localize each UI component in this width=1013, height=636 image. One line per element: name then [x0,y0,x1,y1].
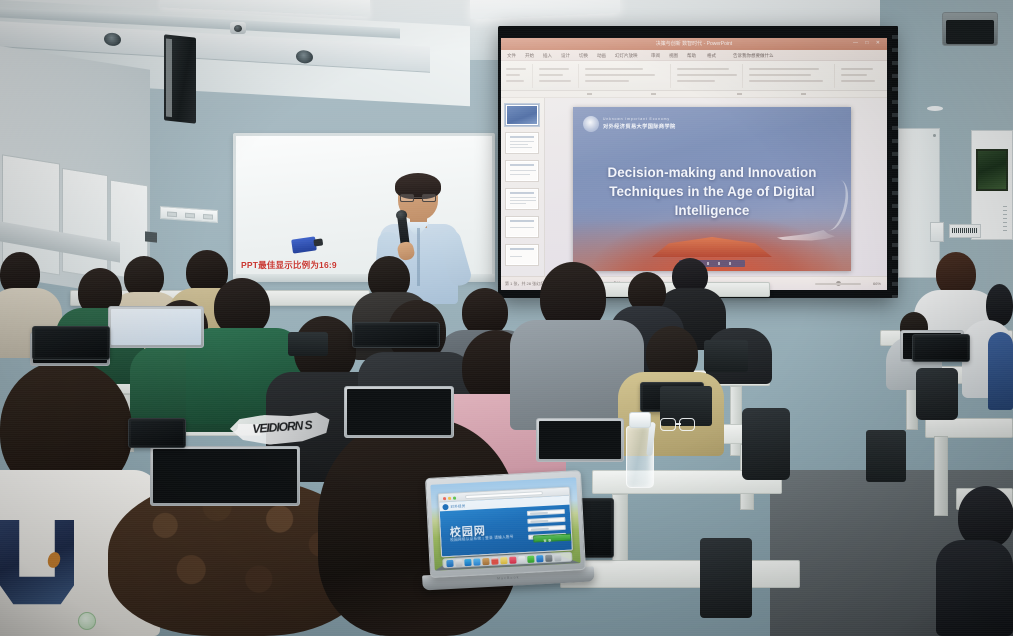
water-bottle[interactable] [626,412,654,488]
student-shoulder [988,332,1013,410]
ceiling-spotlight [296,50,313,64]
window-title: 决策与创新 数智时代 - PowerPoint [656,40,732,47]
bag-right-aisle[interactable] [916,368,958,420]
window-blind [62,168,108,279]
desktop-monitor-left-row[interactable] [128,418,186,448]
launchpad-icon[interactable] [455,559,462,566]
login-form[interactable] [527,509,565,511]
tab-review[interactable]: 审阅 [651,53,660,59]
browser-window[interactable]: 对外经贸 校园网 校园网络认证系统 | 登录 请输入账号 登 录 [438,487,573,558]
slide-editing-stage[interactable]: Unknown Important Economy 对外经济贸易大学国际商学院 … [545,98,887,276]
slide-title-line-2: Techniques in the Age of Digital [595,182,829,201]
horizontal-ruler [501,91,887,98]
tab-format[interactable]: 格式 [707,53,716,59]
slide-thumbnail-4[interactable] [505,188,539,210]
logo-english-text: Unknown Important Economy [603,117,670,121]
display-ratio-notice: PPT最佳显示比例为16:9 [241,259,337,273]
carrier-select[interactable] [528,525,566,532]
zoom-slider[interactable] [815,283,861,285]
maximize-icon[interactable] [453,497,456,500]
surveillance-camera [230,22,246,34]
slide-title-text: Decision-making and Innovation Technique… [573,163,851,220]
desktop-monitor-back[interactable] [32,326,110,360]
desk-leg [934,436,948,516]
ceiling-speaker-right [942,12,998,46]
tab-help[interactable]: 帮助 [687,53,696,59]
account-field[interactable] [527,509,565,516]
wall-socket [145,231,157,242]
tab-insert[interactable]: 插入 [543,53,552,59]
slide-thumbnail-2[interactable] [505,132,539,154]
slide-thumbnail-5[interactable] [505,216,539,238]
powerpoint-title-bar: 决策与创新 数智时代 - PowerPoint — □ ✕ [501,38,887,50]
light-switch-right[interactable] [930,222,944,242]
password-field[interactable] [527,517,565,524]
tab-transitions[interactable]: 切换 [579,53,588,59]
contacts-icon[interactable] [482,557,489,564]
laptop-mid-left[interactable] [108,306,204,348]
tab-view[interactable]: 视图 [669,53,678,59]
chair-back [288,332,328,356]
info-sign [949,224,981,238]
macbook-laptop[interactable]: MacBook 对外经贸 校园网 校园网络认证系统 | 登录 请输 [425,470,587,598]
powerpoint-ribbon[interactable] [501,61,887,91]
projection-screen: 决策与创新 数智时代 - PowerPoint — □ ✕ 文件 开始 插入 设… [498,26,894,298]
logo-chinese-text: 对外经济贸易大学国际商学院 [603,123,676,130]
aircraft-graphic [777,229,835,245]
desk-front-center [560,560,800,588]
chair-back [866,430,906,482]
slide-thumbnail-6[interactable] [505,244,539,266]
appstore-icon[interactable] [536,555,543,562]
ribbon-group-slides[interactable] [535,64,579,88]
settings-icon[interactable] [545,554,552,561]
student-body [936,540,1013,636]
desk-leg [612,494,628,570]
slide-thumbnail-panel[interactable] [501,98,545,276]
tab-slideshow[interactable]: 幻灯片放映 [615,53,638,59]
ribbon-group-editing[interactable] [837,64,885,88]
wall-fixture-icon [918,100,948,120]
slide-thumbnail-3[interactable] [505,160,539,182]
calendar-icon[interactable] [491,557,498,564]
tab-design[interactable]: 设计 [561,53,570,59]
laptop-center[interactable] [344,386,454,438]
login-button[interactable]: 登 录 [533,534,571,543]
poster-image [976,149,1008,191]
tab-home[interactable]: 开始 [525,53,534,59]
presenter-glasses [400,194,436,202]
safari-icon[interactable] [464,558,471,565]
backpack[interactable] [742,408,790,480]
login-button-label: 登 录 [543,537,551,542]
tab-file[interactable]: 文件 [507,53,516,59]
desk-right-3 [925,418,1013,438]
trash-icon[interactable] [554,554,561,561]
slide-title-line-3: Intelligence [595,201,829,220]
laptop-center-right[interactable] [536,418,624,462]
finder-icon[interactable] [446,559,453,566]
presenter-shirt-placket [417,228,420,286]
tab-animations[interactable]: 动画 [597,53,606,59]
close-icon[interactable] [443,497,446,500]
mail-icon[interactable] [473,558,480,565]
desktop-monitor-right[interactable] [912,334,970,362]
photos-icon[interactable] [518,556,525,563]
white-cabinet [898,128,940,278]
site-logo-text: 对外经贸 [450,503,465,509]
eyeglasses-on-desk[interactable] [660,418,702,436]
powerpoint-window[interactable]: 决策与创新 数智时代 - PowerPoint — □ ✕ 文件 开始 插入 设… [501,38,887,290]
current-slide[interactable]: Unknown Important Economy 对外经济贸易大学国际商学院 … [573,107,851,271]
zoom-level[interactable]: 66% [873,281,881,286]
lecture-hall-photo: PPT最佳显示比例为16:9 决策与创新 数智时代 - PowerPoint —… [0,0,1013,636]
ribbon-group-font[interactable] [581,64,671,88]
ribbon-group-paragraph[interactable] [673,64,743,88]
campus-network-login-page[interactable]: 对外经贸 校园网 校园网络认证系统 | 登录 请输入账号 登 录 [439,496,572,557]
window-controls[interactable]: — □ ✕ [853,40,883,46]
wall-speaker-left [164,34,196,123]
poster-text-lines [1003,206,1007,232]
notes-icon[interactable] [500,556,507,563]
student-head [958,486,1013,548]
site-logo-icon [442,503,448,509]
palace-roof-graphic [652,237,772,257]
minimize-icon[interactable] [448,497,451,500]
ribbon-group-drawing[interactable] [745,64,835,88]
tshirt-badge [78,612,96,630]
logo-emblem-icon [583,116,599,132]
ceiling-spotlight [104,32,121,46]
macbook-logo-text: MacBook [497,575,520,580]
slide-title-line-1: Decision-making and Innovation [595,163,829,182]
ribbon-tab-strip[interactable]: 文件 开始 插入 设计 切换 动画 幻灯片放映 审阅 视图 帮助 格式 告诉我你… [501,50,887,61]
ribbon-group-clipboard[interactable] [503,64,533,88]
desktop-monitor-row2[interactable] [352,322,440,348]
student-head [462,288,508,336]
tote-bag[interactable] [700,538,752,618]
music-icon[interactable] [509,556,516,563]
university-logo: Unknown Important Economy 对外经济贸易大学国际商学院 [583,116,679,133]
tell-me-box[interactable]: 告诉我你想要做什么 [733,53,774,59]
slide-thumbnail-1[interactable] [505,104,539,126]
macbook-screen[interactable]: 对外经贸 校园网 校园网络认证系统 | 登录 请输入账号 登 录 [430,477,580,571]
laptop-left-row[interactable] [150,446,300,506]
chair-back [704,340,748,372]
messages-icon[interactable] [527,555,534,562]
